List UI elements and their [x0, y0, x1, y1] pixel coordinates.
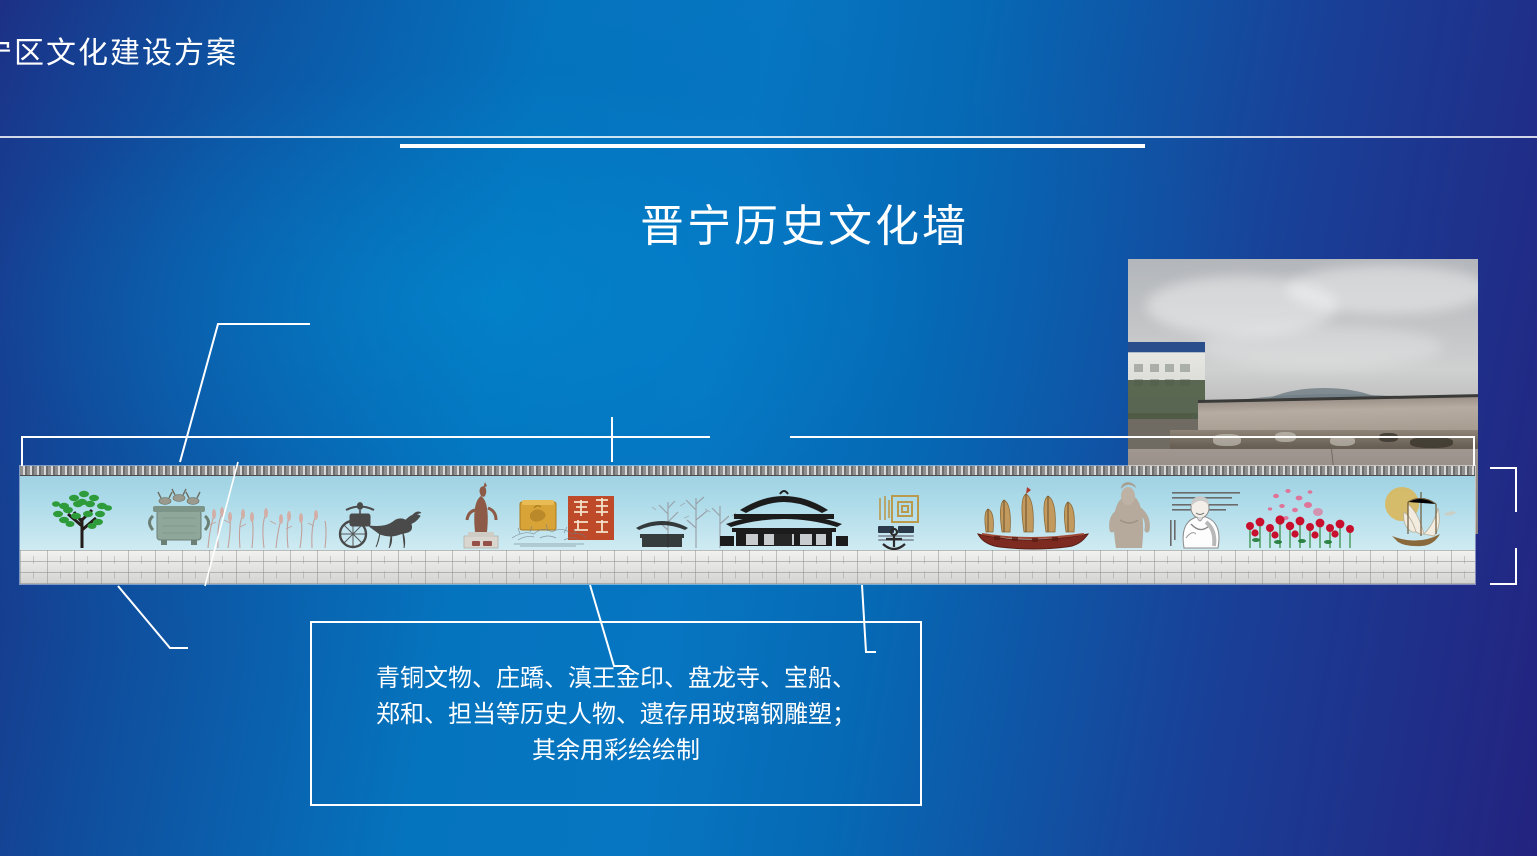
page-title: 晋宁历史文化墙 — [640, 190, 1537, 254]
dimension-bracket-height — [1490, 468, 1516, 584]
mural-sky-band — [20, 476, 1475, 550]
kunming-jinning-logo — [878, 496, 918, 541]
statue-zhuangqiao-icon — [464, 482, 498, 548]
roses-icon — [1246, 515, 1354, 548]
mural-plinth-brick — [20, 550, 1475, 584]
scholar-dandang-icon — [1183, 496, 1219, 548]
header-title: 晋宁区文化建设方案 — [0, 28, 1487, 72]
statue-zhenghe-icon — [1112, 482, 1148, 548]
petals-icon — [1268, 489, 1323, 520]
leader-line-wall — [118, 586, 188, 648]
treasure-ship-icon — [978, 487, 1088, 549]
mural-tile-eave — [20, 466, 1475, 476]
chariot-icon — [340, 503, 421, 548]
header-rule-thin — [0, 136, 1537, 138]
scholar-caption — [1170, 520, 1176, 546]
slide-canvas: 晋宁区文化建设方案 晋宁历史文化墙 — [0, 0, 1537, 856]
wall-elevation-mural — [20, 466, 1475, 584]
callout-line: 其余用彩绘绘制 — [376, 732, 856, 768]
photo-cloud — [1286, 265, 1479, 315]
photo-trees — [1128, 380, 1205, 419]
reeds-icon — [208, 507, 326, 548]
gold-seal-icon — [520, 500, 556, 530]
bronze-vessel-icon — [150, 489, 209, 545]
callout-sculpture-note: 青铜文物、庄蹻、滇王金印、盘龙寺、宝船、 郑和、担当等历史人物、遗存用玻璃钢雕塑… — [310, 621, 922, 806]
mural-artwork — [20, 476, 1475, 550]
photo-cloud — [1198, 325, 1443, 369]
leader-line-sculpture — [180, 324, 310, 462]
panlong-temple-icon — [720, 491, 848, 546]
header-rule-thick — [400, 144, 1145, 148]
side-pavilion-icon — [636, 521, 688, 547]
tree-icon — [52, 491, 112, 548]
callout-line: 青铜文物、庄蹻、滇王金印、盘龙寺、宝船、 — [376, 660, 856, 696]
callout-line: 郑和、担当等历史人物、遗存用玻璃钢雕塑； — [376, 696, 856, 732]
